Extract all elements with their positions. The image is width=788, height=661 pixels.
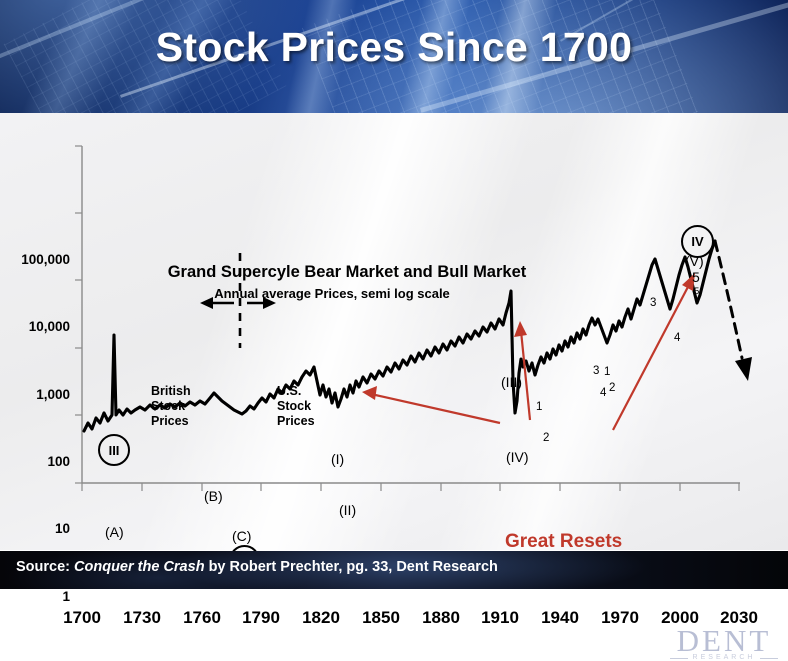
wave-label-C: (C) [232,528,251,544]
great-resets-label: Great Resets [505,531,622,553]
y-tick-label-1: 1 [0,589,70,604]
y-tick-marks [75,146,82,483]
wave-label-A: (A) [105,524,124,540]
wave-label-IV-top: IV [681,225,714,258]
wave-label-III-1929: (III) [501,374,522,390]
page-title: Stock Prices Since 1700 [0,24,788,71]
wave-label-4-1974: 4 [600,387,606,399]
wave-label-III-early: III [98,434,130,466]
y-tick-label-10000: 10,000 [0,319,70,334]
us-stock-prices-label: U.S. Stock Prices [277,384,325,429]
slide-root: Stock Prices Since 1700 Grand Supercyle … [0,0,788,589]
wave-label-1-1970: 1 [604,366,610,378]
wave-label-I: (I) [331,451,344,467]
x-tick-marks [82,483,739,491]
source-suffix: by Robert Prechter, pg. 33, Dent Researc… [209,559,498,575]
wave-label-5-outer: 5 [692,269,700,285]
y-tick-label-10: 10 [0,521,70,536]
british-stock-prices-label: British Stock Prices [151,384,207,429]
dent-logo-tagline: RESEARCH [668,654,780,661]
dent-logo: DENT [668,625,780,656]
wave-label-2-1942: 2 [543,432,549,444]
source-prefix: Source: [16,559,70,575]
projection-dashed-arrow [715,241,752,381]
title-banner: Stock Prices Since 1700 [0,0,788,113]
y-tick-label-100000: 100,000 [0,252,70,267]
wave-label-IV-1932: (IV) [506,449,529,465]
wave-label-II: (II) [339,502,356,518]
y-tick-label-1000: 1,000 [0,387,70,402]
wave-label-1-1937: 1 [536,401,542,413]
wave-label-5-inner: 5 [694,286,699,297]
wave-label-3-1966: 3 [593,365,599,377]
source-book-title: Conquer the Crash [74,559,205,575]
divider-arrow-left [200,297,234,309]
wave-label-3-2000: 3 [650,297,656,309]
chart-canvas: Grand Supercyle Bear Market and Bull Mar… [0,113,788,550]
wave-label-4-2009: 4 [674,332,680,344]
y-tick-label-100: 100 [0,454,70,469]
divider-arrow-right [247,297,276,309]
wave-label-2-1977: 2 [609,382,615,394]
source-footer: Source: Conquer the Crash by Robert Prec… [0,551,788,589]
chart-plot [0,113,788,550]
wave-label-B: (B) [204,488,223,504]
source-text: Source: Conquer the Crash by Robert Prec… [16,559,498,575]
great-resets-arrow-left [362,386,500,423]
